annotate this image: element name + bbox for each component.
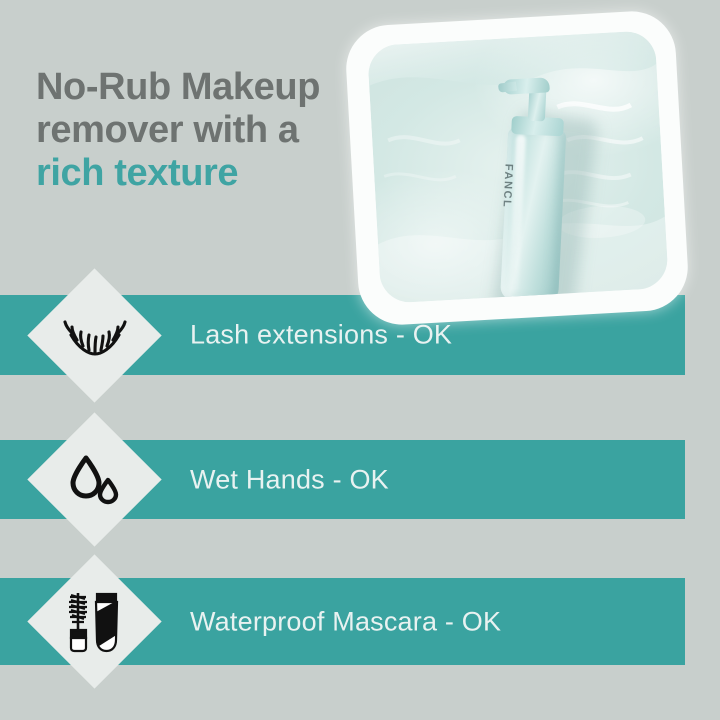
brand-label: FANCL [501,164,515,209]
product-photo: FANCL [367,30,669,304]
promo-graphic: No-Rub Makeup remover with a rich textur… [0,0,720,720]
water-drop-icon [47,432,142,527]
feature-label: Waterproof Mascara - OK [190,606,501,637]
product-photo-card: FANCL [344,9,690,327]
feature-icon-badge-lash-extensions [27,268,161,402]
page-title: No-Rub Makeup remover with a rich textur… [36,66,386,195]
product-bottle: FANCL [486,71,583,303]
headline-line-3-accent: rich texture [36,152,386,195]
feature-label: Wet Hands - OK [190,464,389,495]
bottle-neck [528,89,547,122]
headline-line-2: remover with a [36,109,386,152]
headline-line-1: No-Rub Makeup [36,66,386,109]
eyelash-icon [47,288,142,383]
feature-icon-badge-waterproof-mascara [27,554,161,688]
feature-icon-badge-wet-hands [27,412,161,546]
mascara-icon [47,574,142,669]
feature-label: Lash extensions - OK [190,320,452,351]
